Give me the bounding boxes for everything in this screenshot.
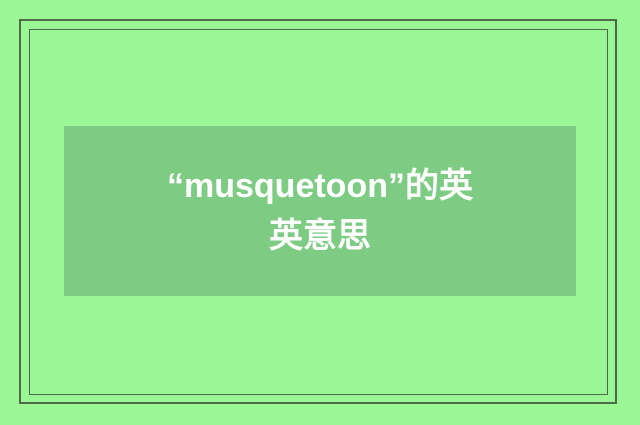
page-title: “musquetoon”的英英意思 (154, 161, 486, 262)
page-canvas: “musquetoon”的英英意思 (0, 0, 640, 425)
title-card: “musquetoon”的英英意思 (64, 126, 576, 296)
